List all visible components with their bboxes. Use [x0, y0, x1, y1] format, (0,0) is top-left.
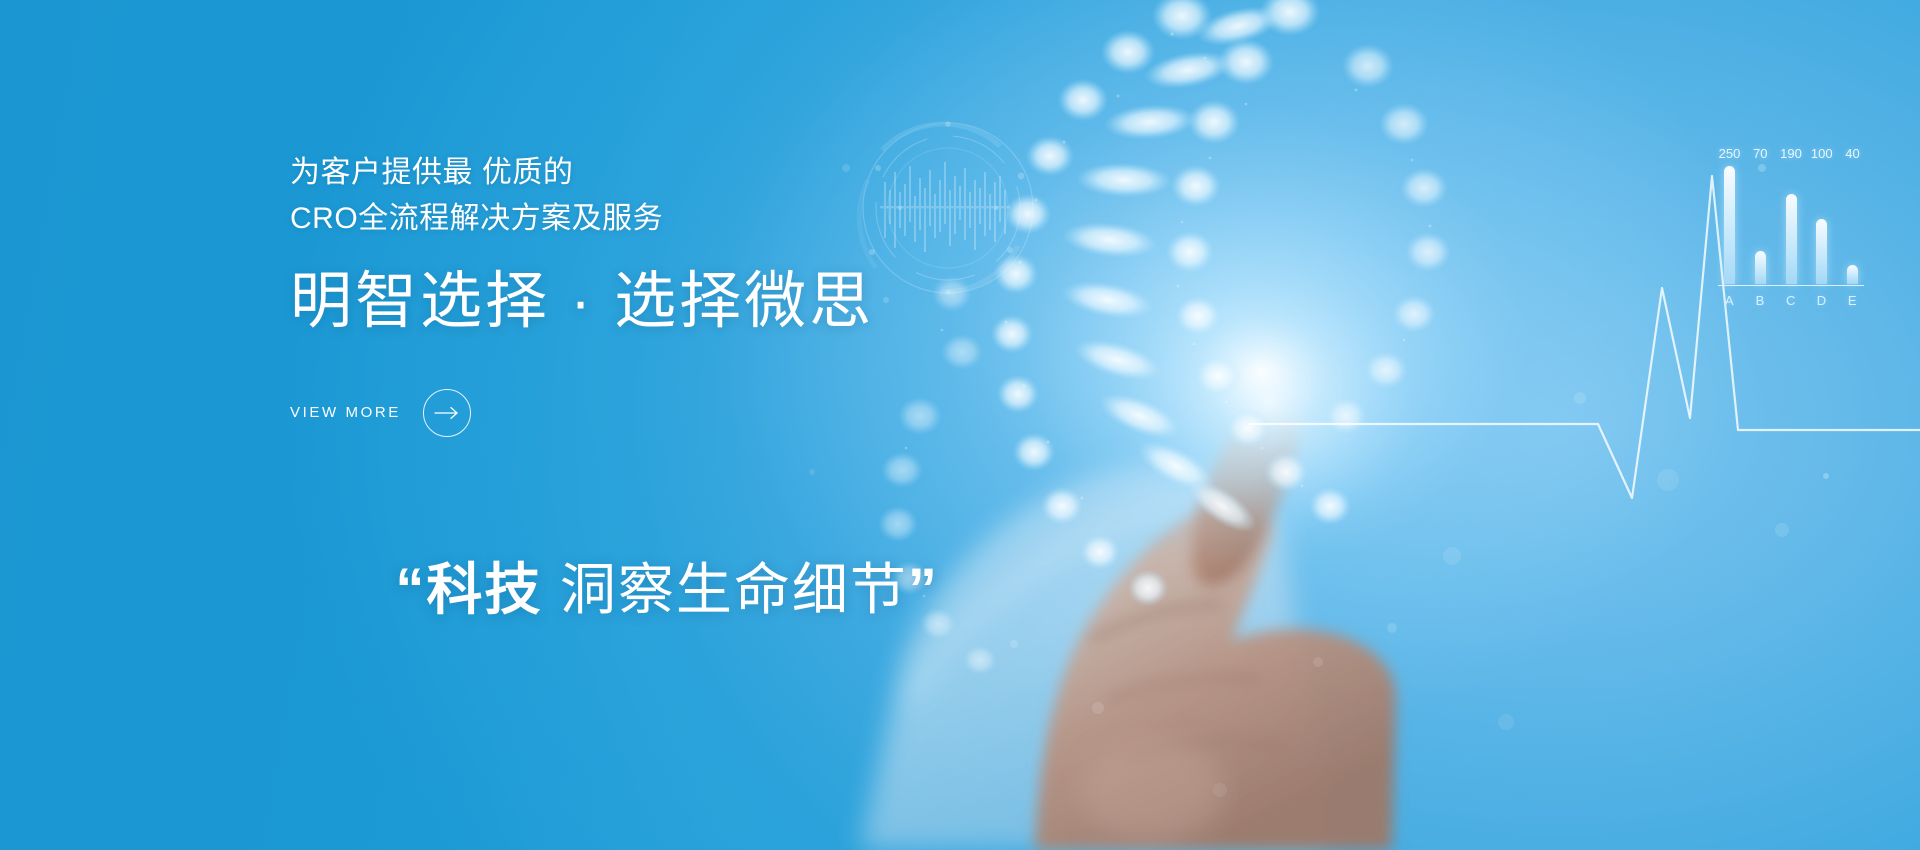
- bar-value: 70: [1753, 146, 1767, 161]
- hero-content: 为客户提供最 优质的 CRO全流程解决方案及服务 明智选择 · 选择微思 VIE…: [290, 150, 1110, 688]
- quote-space: [542, 558, 560, 621]
- bar-a: [1724, 166, 1735, 284]
- bar-column: 190: [1786, 166, 1797, 284]
- bar-chart-plot: 250 70 190 100 40: [1716, 166, 1866, 284]
- bar-b: [1755, 251, 1766, 284]
- bar-column: 250: [1724, 166, 1735, 284]
- quote-light-text: 洞察生命细节: [560, 558, 908, 621]
- category-label: C: [1786, 293, 1797, 308]
- bar-column: 40: [1847, 166, 1858, 284]
- bar-d: [1816, 219, 1827, 284]
- hero-headline: 明智选择 · 选择微思: [290, 267, 1110, 336]
- quote-close-mark: ”: [908, 557, 939, 622]
- bar-chart: 250 70 190 100 40 A B C D E: [1716, 150, 1866, 310]
- view-more-label: VIEW MORE: [290, 404, 401, 421]
- bar-c: [1786, 194, 1797, 284]
- category-label: E: [1847, 293, 1858, 308]
- bar-value: 250: [1719, 146, 1741, 161]
- hero-quote: “科技 洞察生命细节”: [290, 493, 1110, 688]
- bar-value: 100: [1811, 146, 1833, 161]
- quote-strong-text: 科技: [426, 558, 542, 621]
- arrow-right-icon[interactable]: [423, 389, 471, 437]
- category-label: B: [1755, 293, 1766, 308]
- bar-e: [1847, 265, 1858, 284]
- bar-column: 70: [1755, 166, 1766, 284]
- bar-chart-axis: [1718, 285, 1864, 286]
- subtitle-line-2: CRO全流程解决方案及服务: [290, 196, 1110, 242]
- quote-open-mark: “: [395, 557, 426, 622]
- bar-value: 190: [1780, 146, 1802, 161]
- category-label: D: [1816, 293, 1827, 308]
- hero-banner: 250 70 190 100 40 A B C D E 为客户提供最 优质的 C…: [0, 0, 1920, 850]
- bar-column: 100: [1816, 166, 1827, 284]
- view-more-button[interactable]: VIEW MORE: [290, 389, 471, 437]
- bar-chart-category-labels: A B C D E: [1716, 290, 1866, 310]
- subtitle-line-1: 为客户提供最 优质的: [290, 150, 1110, 196]
- category-label: A: [1724, 293, 1735, 308]
- hero-subtitle: 为客户提供最 优质的 CRO全流程解决方案及服务: [290, 150, 1110, 241]
- bar-value: 40: [1845, 146, 1859, 161]
